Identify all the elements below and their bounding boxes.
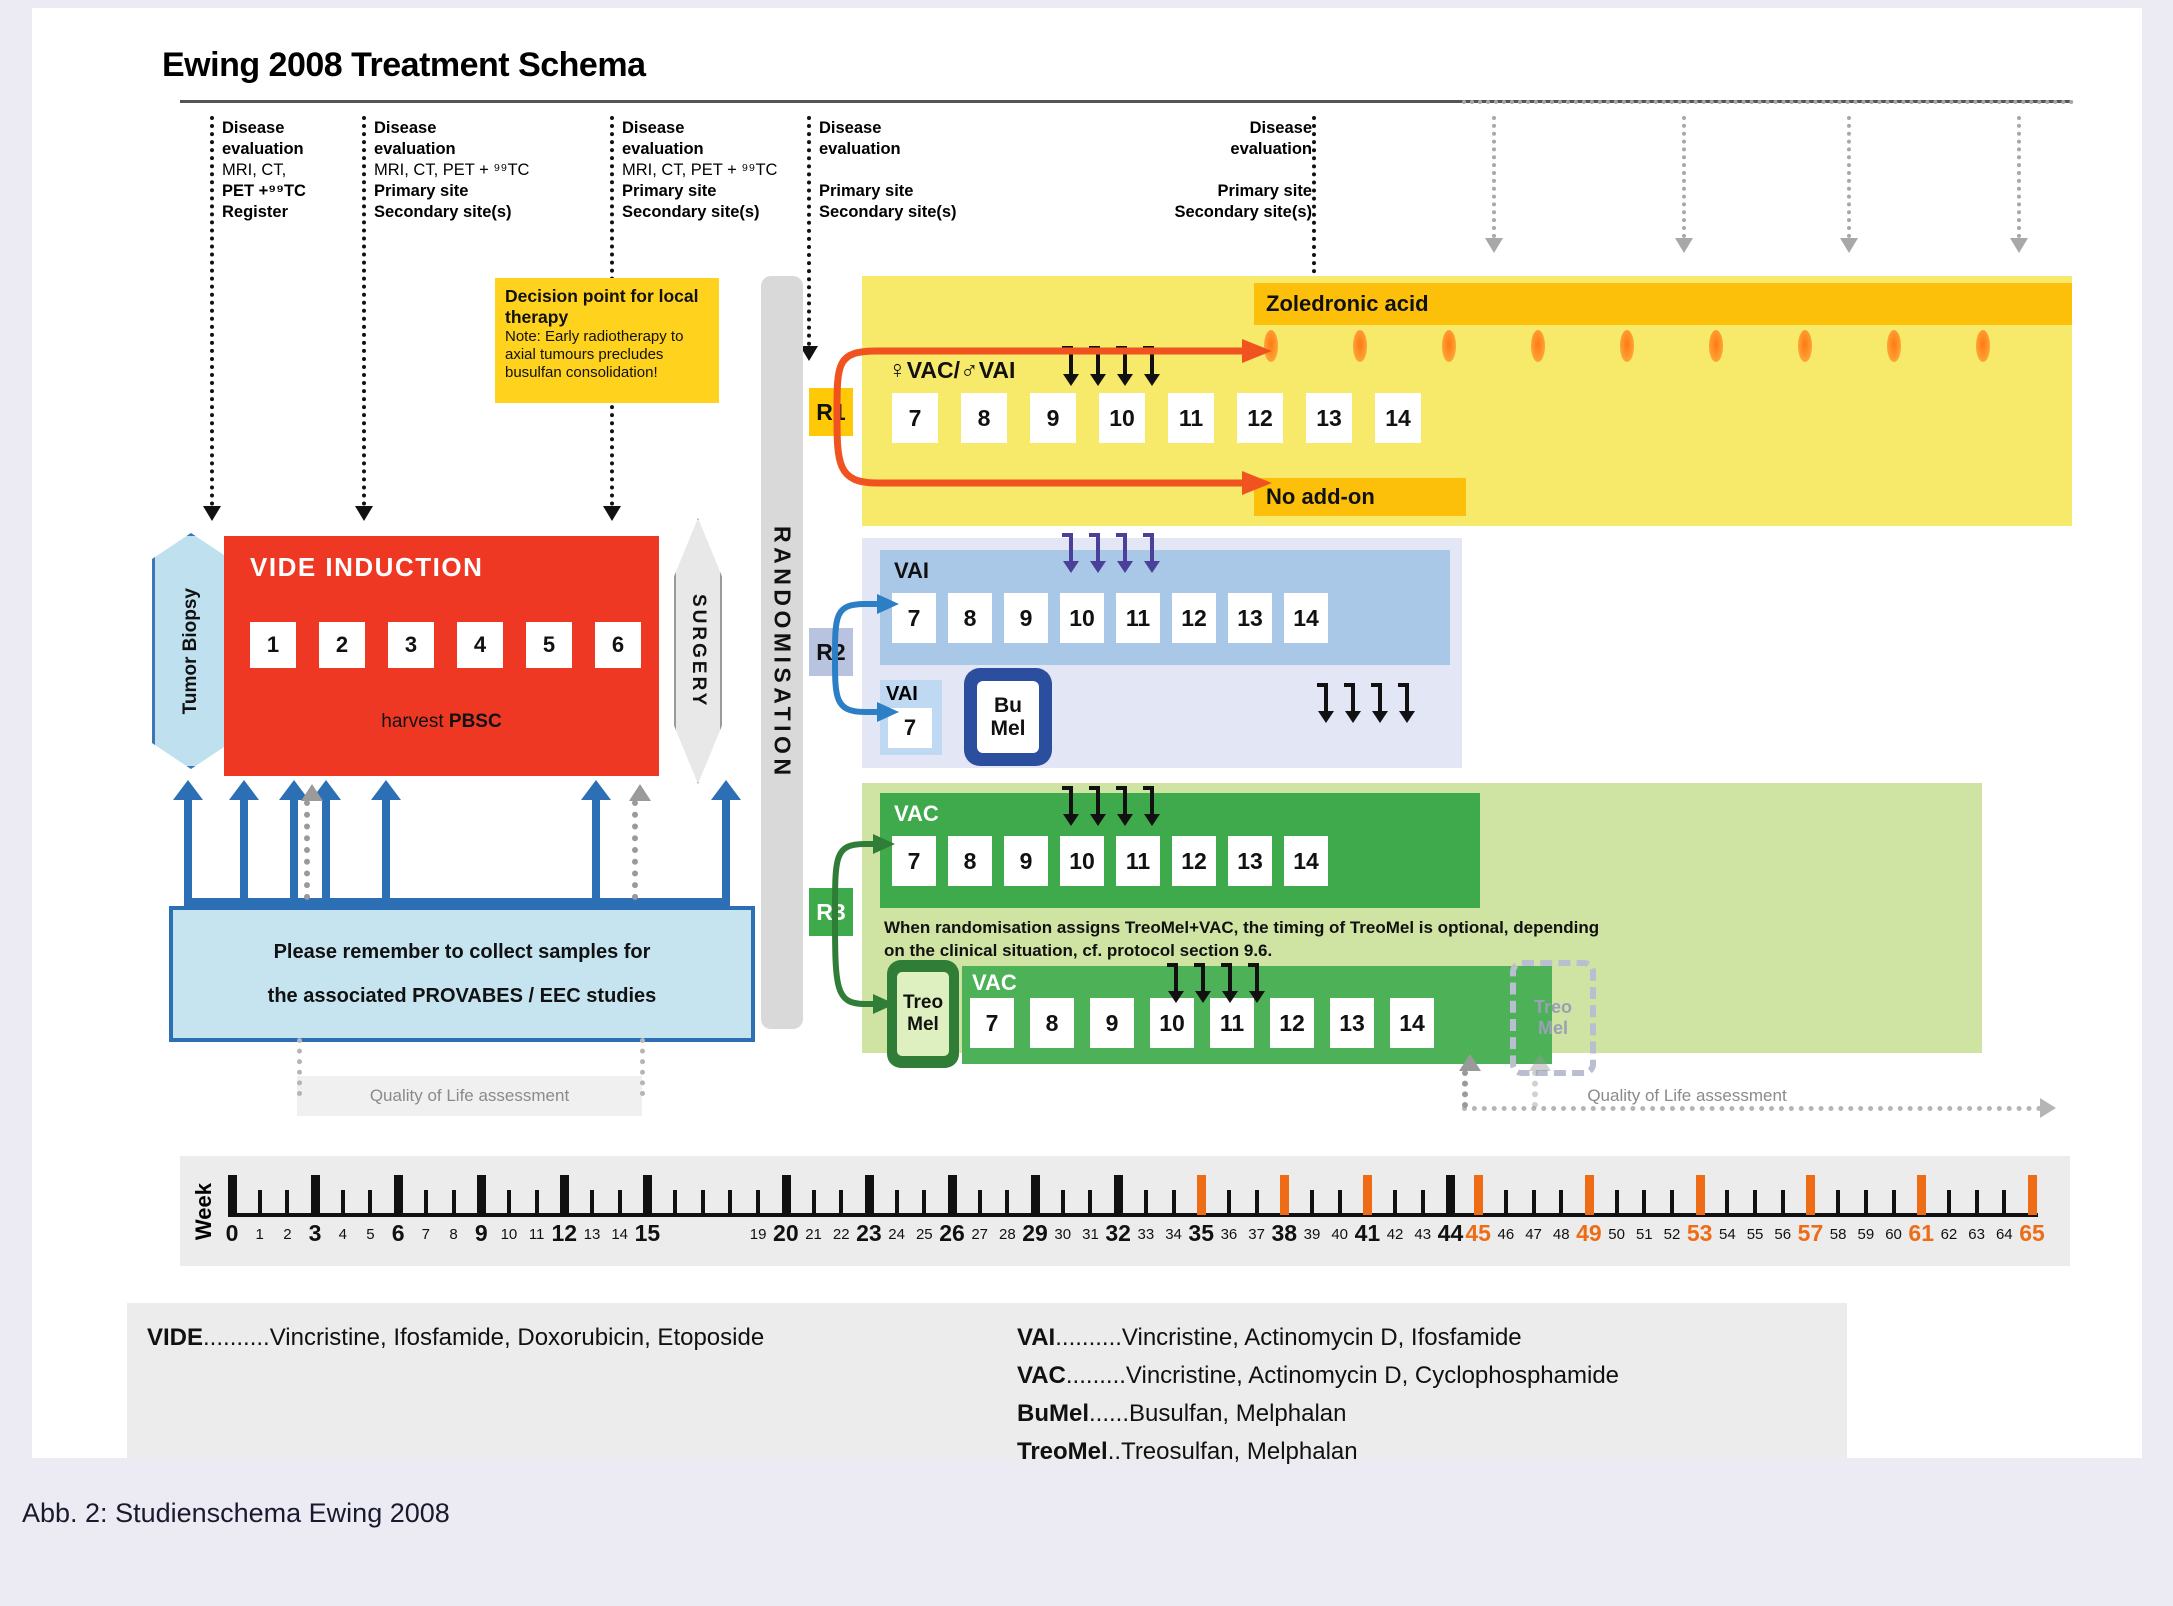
down-arrow-icon — [1062, 786, 1078, 826]
sample-arrow — [184, 798, 192, 906]
disease-evaluation-dotted-line — [210, 116, 214, 506]
disease-evaluation-line: Disease — [1002, 118, 1312, 139]
disease-evaluation-line: PET +⁹⁹TC — [222, 181, 306, 202]
zoledronic-dose-drop-icon — [1620, 330, 1634, 362]
zoledronic-dose-drop-icon — [1442, 330, 1456, 362]
cycle-box: 9 — [1004, 836, 1048, 886]
legend-row: VIDE..........Vincristine, Ifosfamide, D… — [147, 1319, 764, 1357]
cycle-box: 5 — [526, 622, 572, 668]
week-tick — [812, 1190, 816, 1215]
qol-arrow-icon — [2040, 1098, 2056, 1118]
disease-evaluation-column: DiseaseevaluationMRI, CT,PET +⁹⁹TCRegist… — [222, 118, 306, 223]
bumel-line1: Bu — [994, 694, 1022, 717]
week-tick — [1474, 1175, 1483, 1215]
down-arrow-icon — [1089, 533, 1105, 573]
week-tick — [394, 1175, 403, 1215]
week-tick — [1753, 1190, 1757, 1215]
disease-evaluation-arrow — [203, 506, 221, 521]
week-tick — [311, 1175, 320, 1215]
week-tick — [643, 1175, 652, 1215]
cycle-box: 13 — [1330, 998, 1374, 1048]
week-tick — [1227, 1190, 1231, 1215]
cycle-box: 13 — [1228, 593, 1272, 643]
week-tick — [560, 1175, 569, 1215]
followup-arrow — [2010, 238, 2028, 253]
disease-evaluation-line: MRI, CT, — [222, 160, 306, 181]
week-tick — [1532, 1190, 1536, 1215]
decision-heading: Decision point for local therapy — [505, 286, 709, 328]
week-tick — [1061, 1190, 1065, 1215]
cycle-box: 6 — [595, 622, 641, 668]
cycle-box: 8 — [948, 836, 992, 886]
week-tick — [1559, 1190, 1563, 1215]
disease-evaluation-line: Secondary site(s) — [374, 202, 529, 223]
week-tick — [1892, 1190, 1896, 1215]
cycle-box: 13 — [1228, 836, 1272, 886]
disease-evaluation-line: evaluation — [622, 139, 777, 160]
treomel-line1: Treo — [903, 992, 943, 1014]
randomisation-bar: RANDOMISATION — [761, 276, 803, 1029]
radiotherapy-arrow-group — [1062, 533, 1159, 573]
r3-arm-b-label: VAC — [972, 970, 1017, 996]
disease-evaluation-line — [819, 160, 957, 181]
disease-evaluation-line: Secondary site(s) — [1002, 202, 1312, 223]
disease-evaluation-line — [1002, 160, 1312, 181]
week-tick — [285, 1190, 289, 1215]
week-tick — [258, 1190, 262, 1215]
week-tick — [839, 1190, 843, 1215]
cycle-box: 14 — [1284, 836, 1328, 886]
followup-dotted-line — [2017, 116, 2021, 238]
sample-arrow — [240, 798, 248, 906]
randomisation-label: RANDOMISATION — [769, 526, 796, 780]
week-tick — [673, 1190, 677, 1215]
sample-arrow — [322, 798, 330, 906]
legend-abbr: VAI — [1017, 1324, 1055, 1351]
week-tick — [728, 1190, 732, 1215]
cycle-box: 7 — [892, 393, 938, 443]
week-tick — [507, 1190, 511, 1215]
down-arrow-icon — [1143, 346, 1159, 386]
down-arrow-icon — [1062, 533, 1078, 573]
disease-evaluation-column: DiseaseevaluationMRI, CT, PET + ⁹⁹TCPrim… — [374, 118, 529, 223]
disease-evaluation-line: evaluation — [374, 139, 529, 160]
followup-dotted-line — [1492, 116, 1496, 238]
disease-evaluation-line: Secondary site(s) — [622, 202, 777, 223]
decision-point-box: Decision point for local therapy Note: E… — [495, 278, 719, 403]
zoledronic-dose-drop-icon — [1531, 330, 1545, 362]
qol-tick — [640, 1038, 645, 1096]
qol-tick — [297, 1038, 302, 1096]
cycle-box: 13 — [1306, 393, 1352, 443]
down-arrow-icon — [1089, 786, 1105, 826]
zoledronic-dose-drop-icon — [1264, 330, 1278, 362]
week-label: 15 — [625, 1220, 669, 1247]
week-tick — [1421, 1190, 1425, 1215]
legend-abbr: VAC — [1017, 1362, 1066, 1389]
r3-note: When randomisation assigns TreoMel+VAC, … — [884, 916, 1624, 962]
down-arrow-icon — [1194, 963, 1210, 1003]
r2-connector — [827, 568, 907, 738]
followup-arrow — [1485, 238, 1503, 253]
legend-dots: ...... — [1089, 1400, 1129, 1427]
cycle-box: 10 — [1150, 998, 1194, 1048]
zoledronic-acid-bar: Zoledronic acid — [1254, 283, 2072, 325]
week-tick — [1585, 1175, 1594, 1215]
down-arrow-icon — [1248, 963, 1264, 1003]
legend-dots: .......... — [203, 1324, 270, 1351]
disease-evaluation-line: Register — [222, 202, 306, 223]
legend-column-2: VAI..........Vincristine, Actinomycin D,… — [1017, 1319, 1619, 1471]
week-tick — [618, 1190, 622, 1215]
week-tick — [1696, 1175, 1705, 1215]
week-tick — [228, 1175, 237, 1215]
legend-expansion: Vincristine, Actinomycin D, Cyclophospha… — [1126, 1362, 1619, 1389]
male-symbol-icon: ♂ — [960, 356, 979, 384]
treomel-optional-ghost: Treo Mel — [1510, 960, 1596, 1076]
week-tick — [424, 1190, 428, 1215]
schema-card: Ewing 2008 Treatment Schema Diseaseevalu… — [32, 8, 2142, 1458]
week-tick — [895, 1190, 899, 1215]
down-arrow-icon — [1143, 533, 1159, 573]
radiotherapy-arrow-group — [1062, 346, 1159, 386]
tumor-biopsy-node: Tumor Biopsy — [152, 533, 230, 769]
disease-evaluation-dotted-line — [362, 116, 366, 506]
cycle-box: 3 — [388, 622, 434, 668]
figure-caption: Abb. 2: Studienschema Ewing 2008 — [22, 1498, 450, 1529]
down-arrow-icon — [1371, 683, 1387, 723]
disease-evaluation-line: MRI, CT, PET + ⁹⁹TC — [374, 160, 529, 181]
week-tick — [477, 1175, 486, 1215]
zoledronic-dose-drop-icon — [1976, 330, 1990, 362]
harvest-prefix: harvest — [381, 711, 449, 732]
surgery-label: SURGERY — [687, 594, 709, 708]
week-tick — [1031, 1175, 1040, 1215]
disease-evaluation-line: Disease — [222, 118, 306, 139]
cycle-box: 11 — [1116, 593, 1160, 643]
cycle-box: 4 — [457, 622, 503, 668]
followup-rail — [1462, 100, 2074, 104]
harvest-pbsc: PBSC — [449, 711, 502, 732]
followup-arrow — [1840, 238, 1858, 253]
down-arrow-icon — [1116, 533, 1132, 573]
legend-row: BuMel......Busulfan, Melphalan — [1017, 1395, 1619, 1433]
week-tick — [1504, 1190, 1508, 1215]
week-tick — [535, 1190, 539, 1215]
down-arrow-icon — [1398, 683, 1414, 723]
cycle-box: 11 — [1116, 836, 1160, 886]
week-tick — [922, 1190, 926, 1215]
provabes-line2: the associated PROVABES / EEC studies — [268, 974, 657, 1018]
radiotherapy-arrow-group — [1062, 786, 1159, 826]
legend-expansion: Treosulfan, Melphalan — [1121, 1438, 1358, 1465]
vac-label: VAC/ — [907, 357, 960, 383]
week-tick — [590, 1190, 594, 1215]
week-label: 65 — [2010, 1220, 2054, 1247]
treomel-ghost-line1: Treo — [1534, 997, 1572, 1018]
sample-arrow — [290, 798, 298, 906]
cycle-box: 2 — [319, 622, 365, 668]
legend-expansion: Vincristine, Ifosfamide, Doxorubicin, Et… — [270, 1324, 764, 1351]
week-tick — [1806, 1175, 1815, 1215]
week-tick — [1363, 1175, 1372, 1215]
disease-evaluation-column: DiseaseevaluationPrimary siteSecondary s… — [819, 118, 957, 223]
week-tick — [1172, 1190, 1176, 1215]
legend-abbr: VIDE — [147, 1324, 203, 1351]
vide-cycle-row: 123456 — [250, 622, 664, 668]
followup-arrow — [1675, 238, 1693, 253]
r1-regimen-label: ♀VAC/♂VAI — [888, 356, 1015, 385]
week-tick — [1615, 1190, 1619, 1215]
disease-evaluation-line: Secondary site(s) — [819, 202, 957, 223]
legend-expansion: Vincristine, Actinomycin D, Ifosfamide — [1122, 1324, 1522, 1351]
cycle-box: 11 — [1210, 998, 1254, 1048]
week-tick — [948, 1175, 957, 1215]
cycle-box: 12 — [1237, 393, 1283, 443]
surgery-node: SURGERY — [674, 518, 722, 784]
week-tick — [1975, 1190, 1979, 1215]
down-arrow-icon — [1143, 786, 1159, 826]
week-ruler — [180, 1156, 2070, 1266]
down-arrow-icon — [1317, 683, 1333, 723]
week-tick — [865, 1175, 874, 1215]
legend-row: VAC.........Vincristine, Actinomycin D, … — [1017, 1357, 1619, 1395]
disease-evaluation-column: DiseaseevaluationPrimary siteSecondary s… — [1002, 118, 1312, 223]
radiotherapy-arrow-group — [1317, 683, 1414, 723]
sample-arrow — [592, 798, 600, 906]
week-tick — [1670, 1190, 1674, 1215]
legend-dots: .......... — [1055, 1324, 1122, 1351]
sample-arrow-rail — [184, 898, 730, 906]
disease-evaluation-line: Disease — [819, 118, 957, 139]
vide-induction-block: VIDE INDUCTION 123456 harvest PBSC — [224, 536, 659, 776]
down-arrow-icon — [1167, 963, 1183, 1003]
week-tick — [1642, 1190, 1646, 1215]
cycle-box: 10 — [1099, 393, 1145, 443]
week-tick — [1446, 1175, 1455, 1215]
week-tick — [1310, 1190, 1314, 1215]
disease-evaluation-dotted-line — [807, 116, 811, 346]
week-tick — [2002, 1190, 2006, 1215]
treomel-ghost-line2: Mel — [1538, 1018, 1568, 1039]
down-arrow-icon — [1089, 346, 1105, 386]
bumel-inner: Bu Mel — [977, 681, 1039, 753]
cycle-box: 11 — [1168, 393, 1214, 443]
week-tick — [1197, 1175, 1206, 1215]
cycle-box: 9 — [1004, 593, 1048, 643]
vide-harvest-label: harvest PBSC — [224, 711, 659, 733]
followup-dotted-line — [1847, 116, 1851, 238]
zoledronic-dose-drop-icon — [1353, 330, 1367, 362]
week-tick — [756, 1190, 760, 1215]
week-tick — [1114, 1175, 1123, 1215]
week-tick — [368, 1190, 372, 1215]
qol-up-arrow — [1462, 1070, 1474, 1108]
week-tick — [1144, 1190, 1148, 1215]
legend-expansion: Busulfan, Melphalan — [1129, 1400, 1346, 1427]
page-title: Ewing 2008 Treatment Schema — [162, 46, 645, 85]
r1-cycle-row: 7891011121314 — [892, 393, 1444, 443]
legend-abbr: BuMel — [1017, 1400, 1089, 1427]
week-tick — [1005, 1190, 1009, 1215]
qol-up-arrow — [1532, 1070, 1544, 1108]
down-arrow-icon — [1062, 346, 1078, 386]
legend-row: TreoMel..Treosulfan, Melphalan — [1017, 1433, 1619, 1471]
disease-evaluation-line: evaluation — [819, 139, 957, 160]
provabes-box: Please remember to collect samples for t… — [169, 906, 755, 1042]
optional-sample-arrow — [632, 800, 644, 900]
legend-abbr: TreoMel — [1017, 1438, 1108, 1465]
optional-sample-arrow — [304, 800, 316, 900]
sample-arrow — [382, 798, 390, 906]
provabes-line1: Please remember to collect samples for — [274, 930, 651, 974]
week-tick — [1864, 1190, 1868, 1215]
disease-evaluation-line: MRI, CT, PET + ⁹⁹TC — [622, 160, 777, 181]
legend-column-1: VIDE..........Vincristine, Ifosfamide, D… — [147, 1319, 764, 1357]
down-arrow-icon — [1344, 683, 1360, 723]
bumel-block: Bu Mel — [964, 668, 1052, 766]
zoledronic-acid-label: Zoledronic acid — [1266, 291, 1429, 317]
legend-dots: ......... — [1066, 1362, 1126, 1389]
week-tick — [1947, 1190, 1951, 1215]
r3-arm-b-cycle-row: 7891011121314 — [970, 998, 1450, 1048]
zoledronic-dose-drop-icon — [1887, 330, 1901, 362]
disease-evaluation-column: DiseaseevaluationMRI, CT, PET + ⁹⁹TCPrim… — [622, 118, 777, 223]
bumel-line2: Mel — [990, 717, 1025, 740]
cycle-box: 12 — [1270, 998, 1314, 1048]
week-tick — [1280, 1175, 1289, 1215]
cycle-box: 8 — [961, 393, 1007, 443]
week-tick — [1781, 1190, 1785, 1215]
qol-assessment-left: Quality of Life assessment — [297, 1076, 642, 1116]
followup-dotted-line — [1682, 116, 1686, 238]
vide-heading: VIDE INDUCTION — [250, 552, 483, 583]
week-tick — [1088, 1190, 1092, 1215]
cycle-box: 7 — [970, 998, 1014, 1048]
ruler-baseline — [228, 1213, 2038, 1217]
qol-dotted-line — [1462, 1106, 2042, 1111]
down-arrow-icon — [1116, 346, 1132, 386]
zoledronic-dose-drop-icon — [1798, 330, 1812, 362]
cycle-box: 12 — [1172, 593, 1216, 643]
cycle-box: 12 — [1172, 836, 1216, 886]
cycle-box: 8 — [948, 593, 992, 643]
cycle-box: 14 — [1284, 593, 1328, 643]
down-arrow-icon — [1116, 786, 1132, 826]
week-tick — [701, 1190, 705, 1215]
disease-evaluation-arrow — [603, 506, 621, 521]
week-tick — [1725, 1190, 1729, 1215]
sample-arrow — [722, 798, 730, 906]
down-arrow-icon — [1221, 963, 1237, 1003]
week-tick — [2028, 1175, 2037, 1215]
abbreviation-legend: VIDE..........Vincristine, Ifosfamide, D… — [127, 1303, 1847, 1458]
zoledronic-dose-drop-icon — [1709, 330, 1723, 362]
cycle-box: 1 — [250, 622, 296, 668]
disease-evaluation-line: Disease — [374, 118, 529, 139]
cycle-box: 8 — [1030, 998, 1074, 1048]
vai-label: VAI — [979, 357, 1016, 383]
cycle-box: 10 — [1060, 836, 1104, 886]
cycle-box: 9 — [1090, 998, 1134, 1048]
disease-evaluation-line: evaluation — [222, 139, 306, 160]
cycle-box: 10 — [1060, 593, 1104, 643]
disease-evaluation-line: Disease — [622, 118, 777, 139]
radiotherapy-arrow-group — [1167, 963, 1264, 1003]
no-add-on-label: No add-on — [1266, 484, 1375, 510]
legend-row: VAI..........Vincristine, Actinomycin D,… — [1017, 1319, 1619, 1357]
female-symbol-icon: ♀ — [888, 356, 907, 384]
cycle-box: 14 — [1375, 393, 1421, 443]
week-tick — [978, 1190, 982, 1215]
r1-badge[interactable]: R1 — [809, 388, 853, 436]
week-tick — [1393, 1190, 1397, 1215]
r2-arm-a-cycle-row: 7891011121314 — [892, 593, 1340, 643]
cycle-box: 14 — [1390, 998, 1434, 1048]
legend-dots: .. — [1108, 1438, 1121, 1465]
week-tick — [341, 1190, 345, 1215]
r3-connector — [827, 808, 907, 1028]
disease-evaluation-line: Primary site — [819, 181, 957, 202]
decision-note: Note: Early radiotherapy to axial tumour… — [505, 328, 709, 382]
r3-arm-a-cycle-row: 7891011121314 — [892, 836, 1340, 886]
tumor-biopsy-label: Tumor Biopsy — [180, 588, 202, 714]
week-tick — [1338, 1190, 1342, 1215]
disease-evaluation-line: Primary site — [374, 181, 529, 202]
week-tick — [782, 1175, 791, 1215]
disease-evaluation-line: Primary site — [622, 181, 777, 202]
disease-evaluation-line: evaluation — [1002, 139, 1312, 160]
disease-evaluation-arrow — [355, 506, 373, 521]
week-tick — [1255, 1190, 1259, 1215]
treomel-line2: Mel — [907, 1014, 939, 1036]
week-tick — [452, 1190, 456, 1215]
cycle-box: 9 — [1030, 393, 1076, 443]
week-tick — [1917, 1175, 1926, 1215]
week-tick — [1836, 1190, 1840, 1215]
no-add-on-bar: No add-on — [1254, 478, 1466, 516]
disease-evaluation-line: Primary site — [1002, 181, 1312, 202]
